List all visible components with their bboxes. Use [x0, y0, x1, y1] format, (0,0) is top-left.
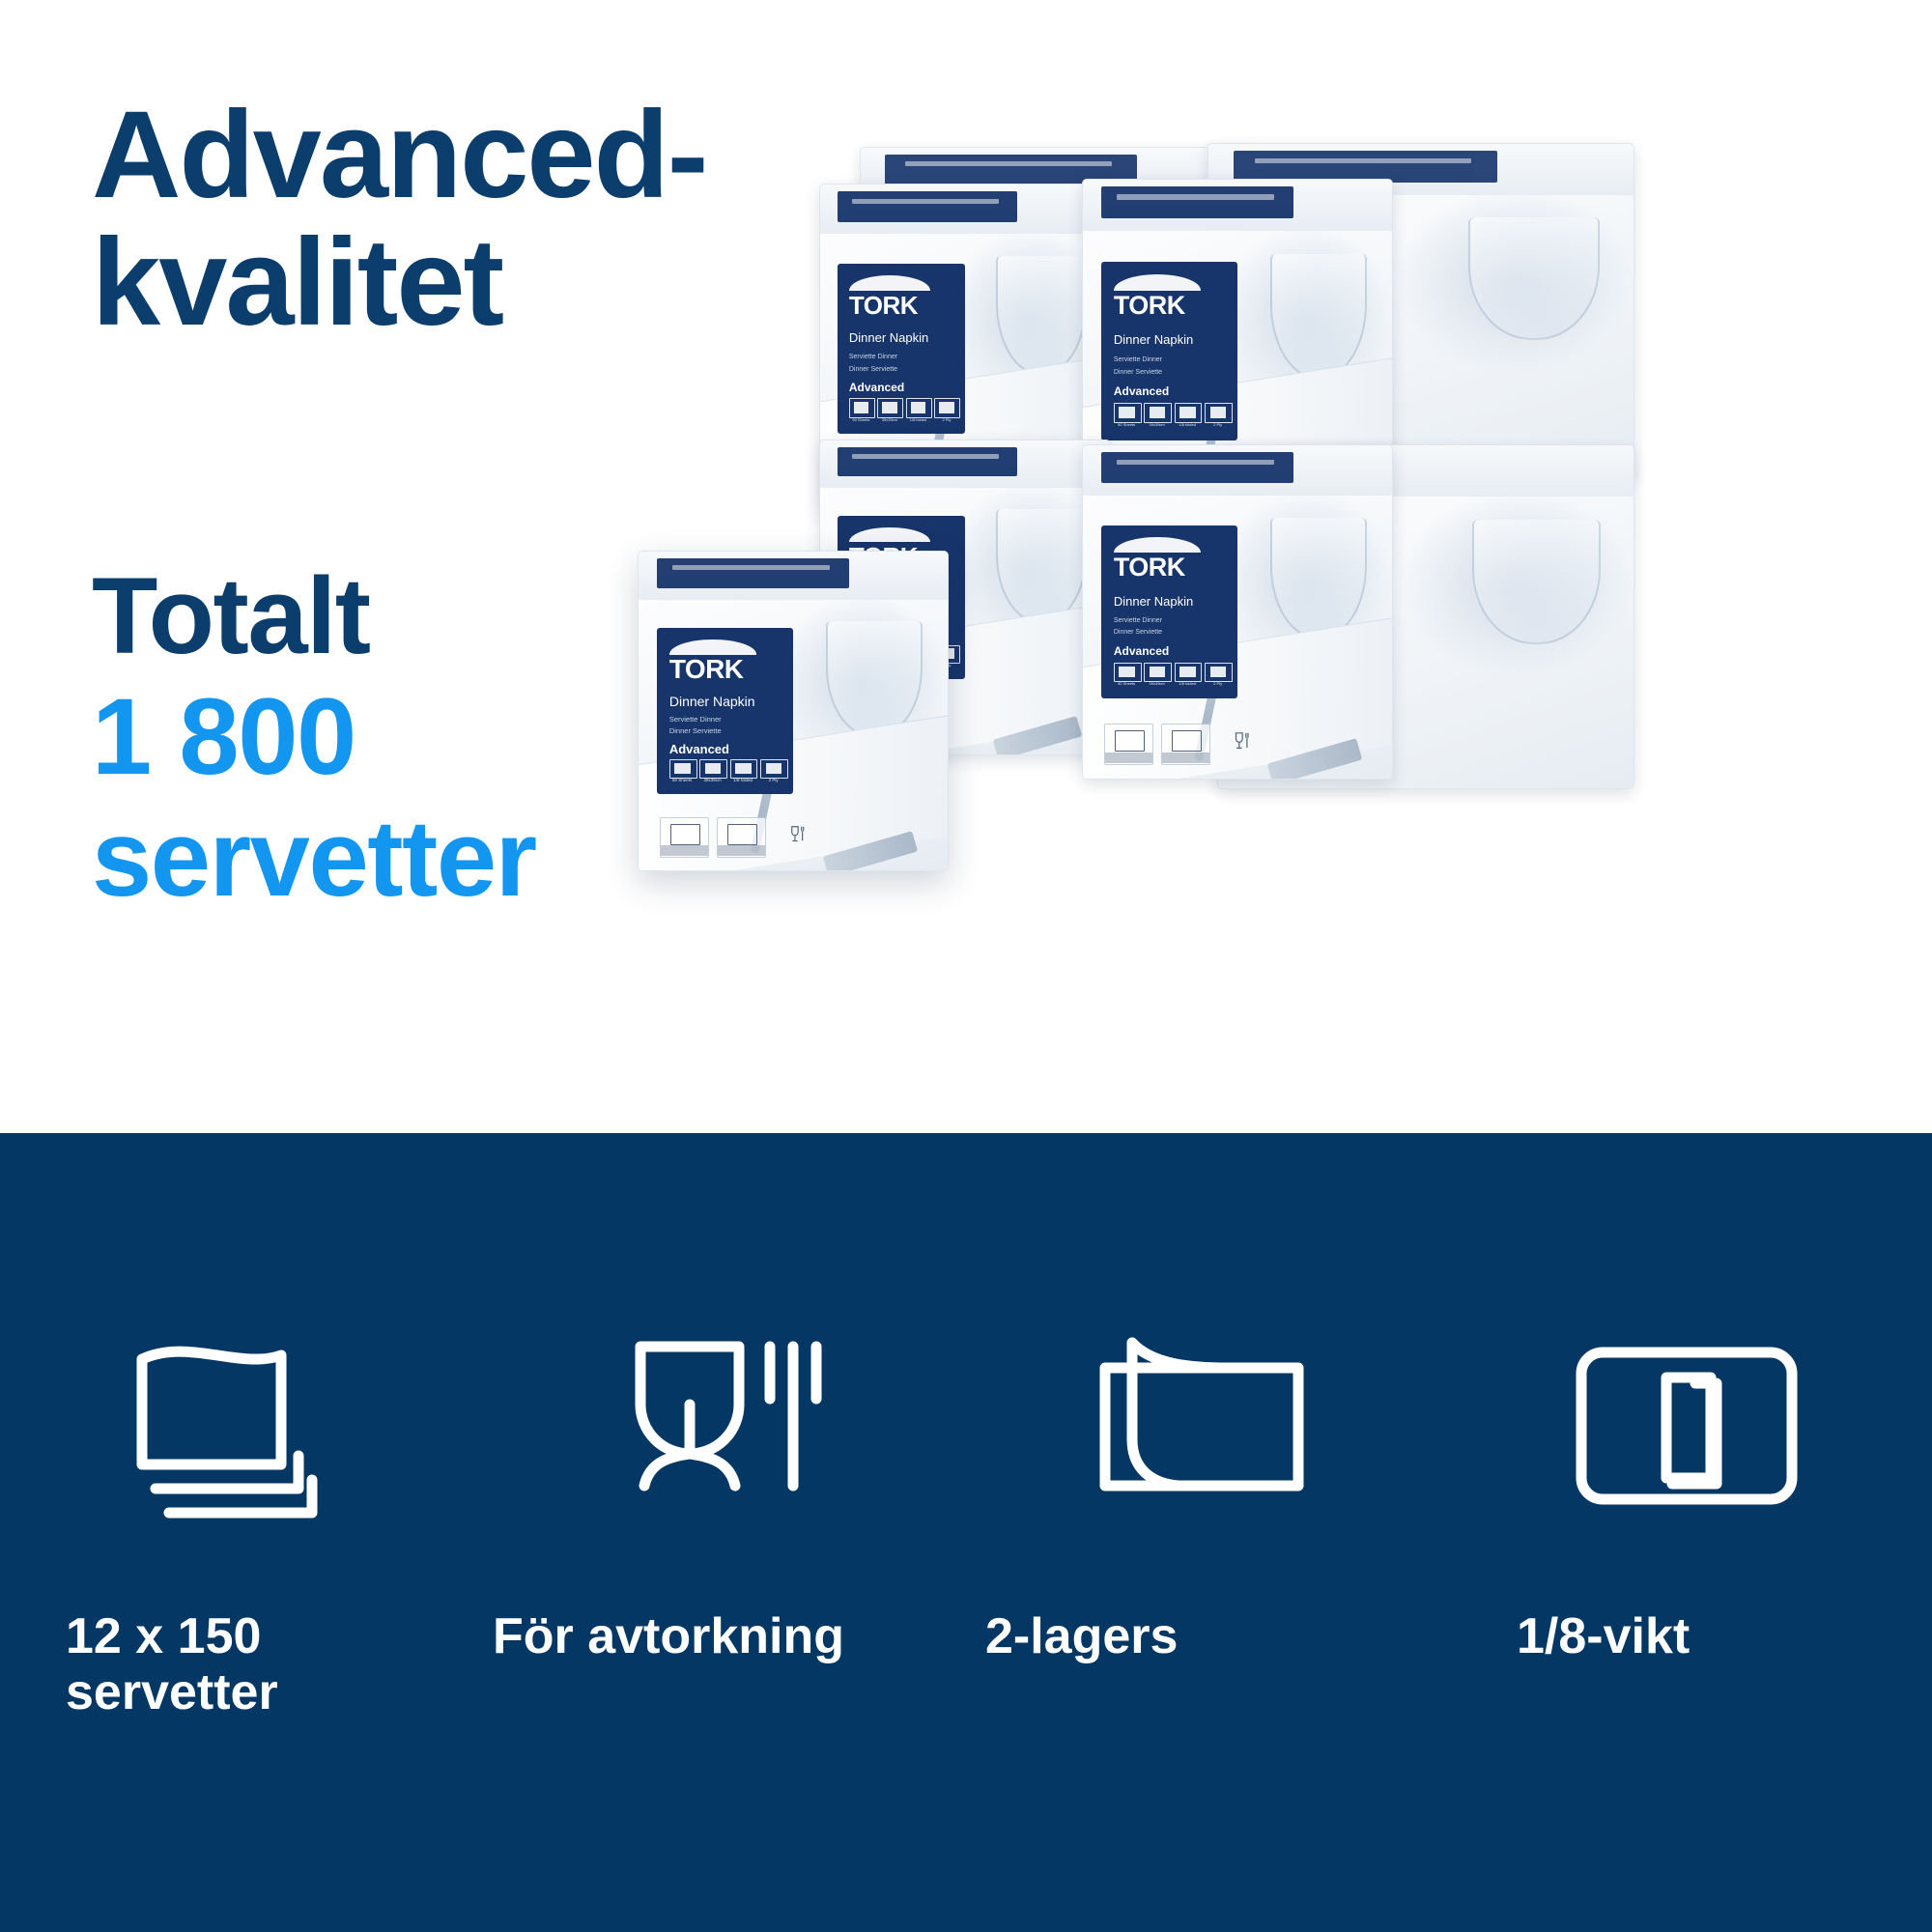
size-icon	[699, 759, 727, 779]
glass-illustration	[1270, 254, 1367, 379]
fold-icon	[906, 398, 932, 418]
pack-tier-label: Advanced	[1114, 645, 1234, 657]
spec-caption: 2 Ply	[760, 779, 786, 783]
size-icon	[1144, 403, 1172, 423]
spec-caption: 2 Ply	[1205, 423, 1231, 427]
spec-caption: 39x39cm	[877, 418, 901, 422]
tork-wave-icon	[849, 275, 930, 291]
spec-caption: 39x39cm	[699, 779, 725, 783]
feature-label-line-1: 2-lagers	[985, 1608, 1178, 1664]
headline-line-1: Advanced-	[92, 92, 884, 219]
pack-front-label: TORK Dinner Napkin Serviette Dinner Dinn…	[1101, 526, 1237, 698]
sheets-icon	[669, 759, 697, 779]
spec-fold: 1/8 folded	[1175, 663, 1201, 692]
pack-spec-icons: 50 Sheets 39x39cm 1/8 folded 2 Ply	[849, 398, 959, 427]
pack-front-label: TORK Dinner Napkin Serviette Dinner Dinn…	[838, 264, 965, 435]
spec-sheets: 50 Sheets	[1114, 403, 1140, 433]
ply-icon	[1205, 663, 1233, 683]
pack-certification-badges	[1104, 725, 1264, 765]
feature-label: För avtorkning	[483, 1608, 966, 1664]
feature-label: 1/8-vikt	[1449, 1608, 1932, 1664]
pack-spec-icons: 50 Sheets 39x39cm 1/8 folded 2 Ply	[1114, 403, 1231, 433]
glass-illustration	[1468, 217, 1600, 340]
product-pack-stack: TORK Dinner Napkin Serviette Dinner Dinn…	[802, 126, 1903, 1101]
spec-caption: 39x39cm	[1144, 682, 1170, 686]
pack-front-label: TORK Dinner Napkin Serviette Dinner Dinn…	[1101, 262, 1237, 440]
spec-sheets: 50 Sheets	[849, 398, 873, 427]
spec-ply: 2 Ply	[1205, 403, 1231, 433]
feature-label-line-2: servetter	[66, 1664, 278, 1720]
feature-label-line-1: 1/8-vikt	[1517, 1608, 1690, 1664]
spec-caption: 2 Ply	[1205, 682, 1231, 686]
feature-label: 12 x 150 servetter	[0, 1608, 483, 1720]
spec-size: 39x39cm	[699, 759, 725, 787]
spec-caption: 1/8 folded	[730, 779, 756, 783]
pack-lid	[820, 440, 1110, 489]
pack-tier-label: Advanced	[1114, 385, 1234, 397]
glass-and-fork-icon	[483, 1326, 966, 1539]
pack-tier-label: Advanced	[849, 382, 961, 393]
tork-brand-wordmark: TORK	[849, 293, 953, 318]
pack-lid-label	[1101, 452, 1293, 483]
pack-lid	[1083, 180, 1392, 232]
spec-size: 39x39cm	[1144, 663, 1170, 692]
fold-icon	[730, 759, 758, 779]
feature-item-ply: 2-lagers	[966, 1133, 1449, 1932]
spec-caption: 1/8 folded	[906, 418, 930, 422]
sheets-icon	[849, 398, 875, 418]
napkin-stack-icon	[0, 1326, 483, 1539]
pack-alt-name-2: Dinner Serviette	[1114, 629, 1234, 637]
feature-label-line-1: För avtorkning	[493, 1608, 844, 1664]
eu-ecolabel-icon	[717, 817, 766, 858]
feature-label: 2-lagers	[966, 1608, 1449, 1664]
tork-wave-icon	[849, 527, 930, 542]
glass-illustration	[826, 621, 923, 737]
spec-fold: 1/8 folded	[1175, 403, 1201, 433]
pack-tier-label: Advanced	[669, 743, 789, 755]
pack-alt-name-1: Serviette Dinner	[669, 716, 789, 724]
spec-caption: 50 Sheets	[1114, 423, 1140, 427]
tork-brand-wordmark: TORK	[669, 656, 781, 683]
spec-sheets: 50 Sheets	[669, 759, 696, 787]
pack-alt-name-1: Serviette Dinner	[1114, 356, 1234, 364]
feature-item-food-safe: För avtorkning	[483, 1133, 966, 1932]
feature-item-fold: 1/8-vikt	[1449, 1133, 1932, 1932]
pack-product-name: Dinner Napkin	[1114, 595, 1234, 609]
glass-illustration	[1270, 518, 1367, 639]
tork-brand-wordmark: TORK	[1114, 554, 1225, 581]
fsc-icon	[1104, 724, 1153, 765]
size-icon	[1144, 663, 1172, 683]
tork-wave-icon	[1114, 537, 1201, 553]
pack-alt-name-2: Dinner Serviette	[849, 366, 961, 374]
eu-ecolabel-icon	[1161, 724, 1210, 765]
pack-lid	[1083, 445, 1392, 497]
size-icon	[877, 398, 903, 418]
spec-sheets: 50 Sheets	[1114, 663, 1140, 692]
pack-lid-label	[1234, 151, 1497, 183]
top-panel: Advanced- kvalitet Totalt 1 800 servette…	[0, 0, 1932, 1133]
spec-caption: 50 Sheets	[1114, 682, 1140, 686]
pack-alt-name-2: Dinner Serviette	[669, 727, 789, 735]
spec-ply: 2 Ply	[934, 398, 958, 427]
headline-block: Advanced- kvalitet	[92, 92, 884, 347]
glass-illustration	[1472, 520, 1601, 644]
pack-lid-label	[1101, 186, 1293, 218]
spec-ply: 2 Ply	[1205, 663, 1231, 692]
sheets-icon	[1114, 403, 1142, 423]
spec-fold: 1/8 folded	[906, 398, 930, 427]
spec-caption: 1/8 folded	[1175, 682, 1201, 686]
spec-ply: 2 Ply	[760, 759, 786, 787]
food-safe-icon	[1218, 725, 1265, 765]
spec-caption: 50 Sheets	[849, 418, 873, 422]
pack-alt-name-1: Serviette Dinner	[1114, 617, 1234, 625]
ply-icon	[760, 759, 788, 779]
product-pack-bottom-right: TORK Dinner Napkin Serviette Dinner Dinn…	[1082, 444, 1393, 780]
pack-spec-icons: 50 Sheets 39x39cm 1/8 folded 2 Ply	[1114, 663, 1231, 692]
spec-caption: 39x39cm	[1144, 423, 1170, 427]
two-ply-sheet-icon	[966, 1326, 1449, 1539]
eighth-fold-icon	[1449, 1326, 1932, 1539]
tork-wave-icon	[1114, 274, 1201, 291]
fold-icon	[1175, 403, 1203, 423]
fold-icon	[1175, 663, 1203, 683]
tork-brand-wordmark: TORK	[1114, 293, 1225, 319]
tork-wave-icon	[669, 639, 756, 654]
bottom-feature-panel: 12 x 150 servetter För avtorkning	[0, 1133, 1932, 1932]
food-safe-icon	[774, 819, 821, 858]
pack-lid	[639, 552, 948, 601]
spec-size: 39x39cm	[1144, 403, 1170, 433]
glass-illustration	[996, 509, 1087, 623]
spec-caption: 50 Sheets	[669, 779, 696, 783]
feature-item-pack-count: 12 x 150 servetter	[0, 1133, 483, 1932]
pack-lid-label	[838, 447, 1017, 476]
product-pack-foreground: TORK Dinner Napkin Serviette Dinner Dinn…	[638, 551, 949, 871]
ply-icon	[934, 398, 960, 418]
pack-front-label: TORK Dinner Napkin Serviette Dinner Dinn…	[657, 628, 793, 794]
pack-lid-label	[657, 558, 848, 588]
spec-fold: 1/8 folded	[730, 759, 756, 787]
pack-lid-label	[838, 191, 1017, 222]
headline-line-2: kvalitet	[92, 219, 884, 347]
spec-size: 39x39cm	[877, 398, 901, 427]
pack-product-name: Dinner Napkin	[1114, 333, 1234, 347]
ply-icon	[1205, 403, 1233, 423]
pack-lid	[820, 185, 1110, 235]
fsc-icon	[660, 817, 709, 858]
glass-illustration	[996, 256, 1087, 375]
feature-list: 12 x 150 servetter För avtorkning	[0, 1133, 1932, 1932]
feature-label-line-1: 12 x 150	[66, 1608, 261, 1664]
pack-product-name: Dinner Napkin	[669, 695, 789, 709]
sheets-icon	[1114, 663, 1142, 683]
pack-alt-name-1: Serviette Dinner	[849, 354, 961, 361]
pack-product-name: Dinner Napkin	[849, 331, 961, 345]
pack-certification-badges	[660, 819, 820, 858]
spec-caption: 2 Ply	[934, 418, 958, 422]
spec-caption: 1/8 folded	[1175, 423, 1201, 427]
pack-alt-name-2: Dinner Serviette	[1114, 369, 1234, 377]
pack-spec-icons: 50 Sheets 39x39cm 1/8 folded 2 Ply	[669, 759, 786, 787]
